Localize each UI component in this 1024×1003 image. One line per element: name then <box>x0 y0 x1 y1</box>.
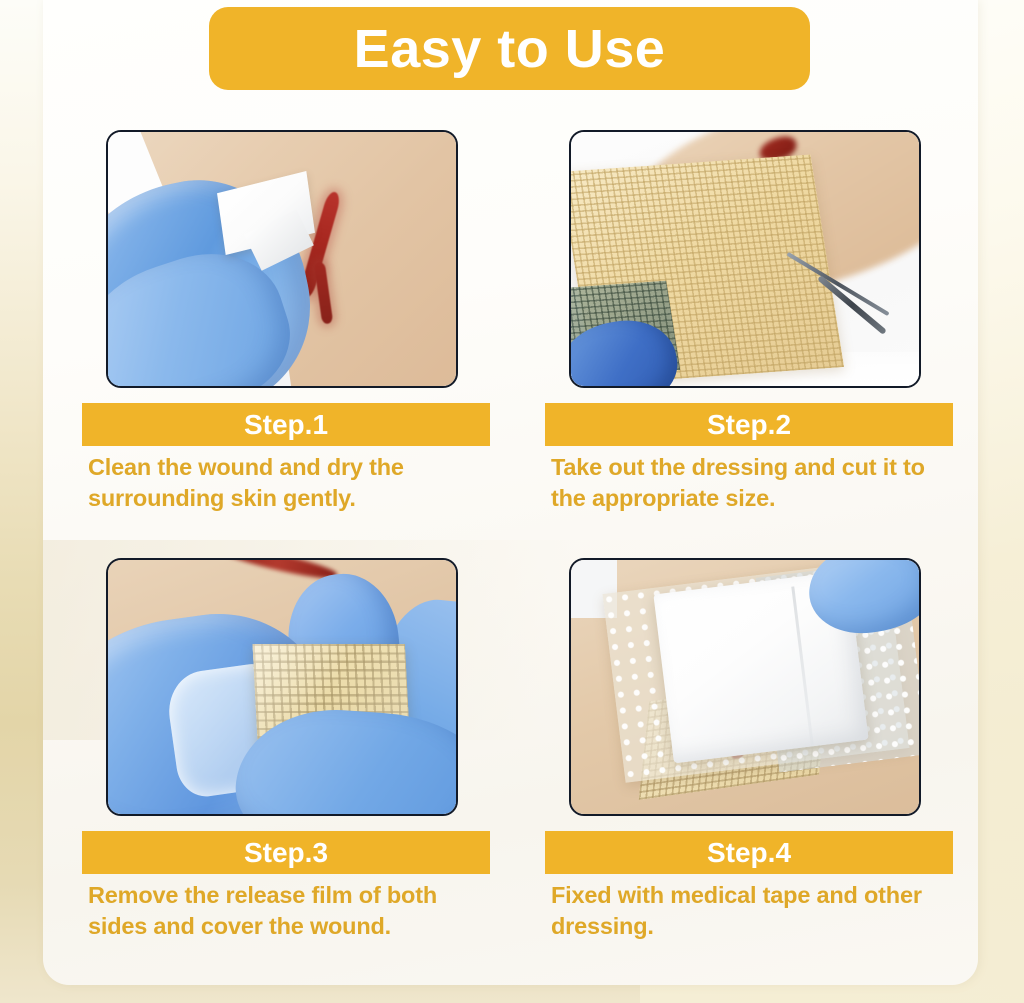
step-label-bar-1: Step.1 <box>82 403 490 446</box>
photo-frame-2 <box>569 130 921 388</box>
step-label-bar-2: Step.2 <box>545 403 953 446</box>
content-layer: Easy to Use Step.1 Clean the wound a <box>0 0 1024 1003</box>
photo-clean-wound-with-gauze <box>108 132 456 386</box>
step-description-4: Fixed with medical tape and other dressi… <box>551 880 955 942</box>
step-label-3: Step.3 <box>244 839 328 867</box>
photo-remove-release-film <box>108 560 456 814</box>
step-label-4: Step.4 <box>707 839 791 867</box>
photo-frame-1 <box>106 130 458 388</box>
step-label-bar-4: Step.4 <box>545 831 953 874</box>
step-description-3: Remove the release film of both sides an… <box>88 880 492 942</box>
step-label-2: Step.2 <box>707 411 791 439</box>
step-label-bar-3: Step.3 <box>82 831 490 874</box>
photo-cut-dressing-with-scissors <box>571 132 919 386</box>
wound-mark-lower <box>314 262 334 325</box>
step-description-2: Take out the dressing and cut it to the … <box>551 452 955 514</box>
photo-frame-3 <box>106 558 458 816</box>
header-banner: Easy to Use <box>209 7 810 90</box>
step-label-1: Step.1 <box>244 411 328 439</box>
infographic-page: Easy to Use Step.1 Clean the wound a <box>0 0 1024 1003</box>
photo-frame-4 <box>569 558 921 816</box>
photo-fix-with-medical-tape <box>571 560 919 814</box>
step-description-1: Clean the wound and dry the surrounding … <box>88 452 492 514</box>
page-title: Easy to Use <box>354 22 666 76</box>
